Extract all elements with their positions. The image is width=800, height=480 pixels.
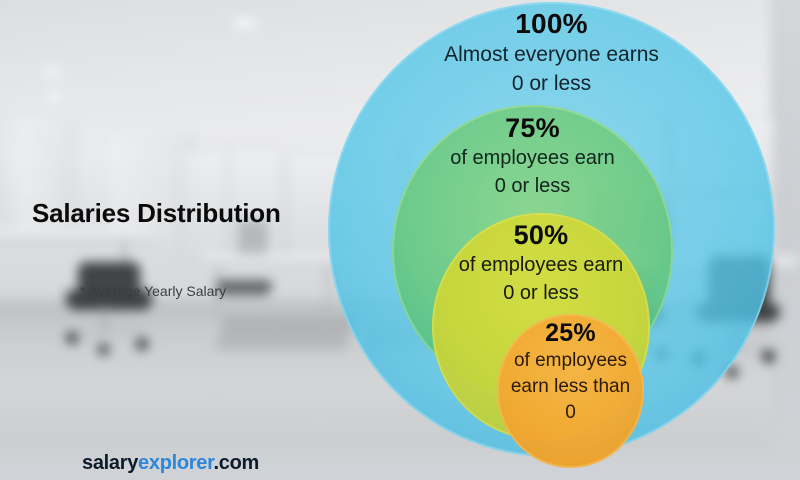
- percentile-desc-50-line1: of employees earn: [459, 254, 624, 277]
- page-title: Salaries Distribution: [32, 198, 281, 229]
- salaryexplorer-logo[interactable]: salaryexplorer.com: [82, 452, 259, 475]
- percentile-desc-25-line1: of employees: [514, 350, 627, 372]
- percentile-bubble-25[interactable]: 25% of employees earn less than 0: [497, 314, 644, 468]
- percentile-desc-100-line2: 0 or less: [512, 72, 591, 96]
- average-salary-note: * Average Yearly Salary: [80, 283, 226, 299]
- percentile-value-25: 25%: [545, 321, 596, 346]
- logo-part-salary: salary: [82, 452, 138, 474]
- percentile-desc-100-line1: Almost everyone earns: [444, 43, 659, 67]
- percentile-desc-25-line3: 0: [565, 402, 576, 424]
- percentile-value-50: 50%: [514, 222, 569, 249]
- percentile-desc-75-line2: 0 or less: [495, 175, 571, 198]
- infographic-canvas: 100% Almost everyone earns 0 or less 75%…: [0, 0, 800, 480]
- percentile-value-100: 100%: [515, 10, 587, 38]
- percentile-desc-75-line1: of employees earn: [450, 147, 615, 170]
- percentile-desc-25-line2: earn less than: [511, 376, 630, 398]
- salary-distribution-chart: 100% Almost everyone earns 0 or less 75%…: [0, 0, 800, 480]
- percentile-value-75: 75%: [505, 115, 560, 142]
- logo-part-domain: .com: [213, 452, 258, 474]
- percentile-desc-50-line2: 0 or less: [503, 282, 579, 305]
- logo-part-explorer: explorer: [138, 452, 213, 474]
